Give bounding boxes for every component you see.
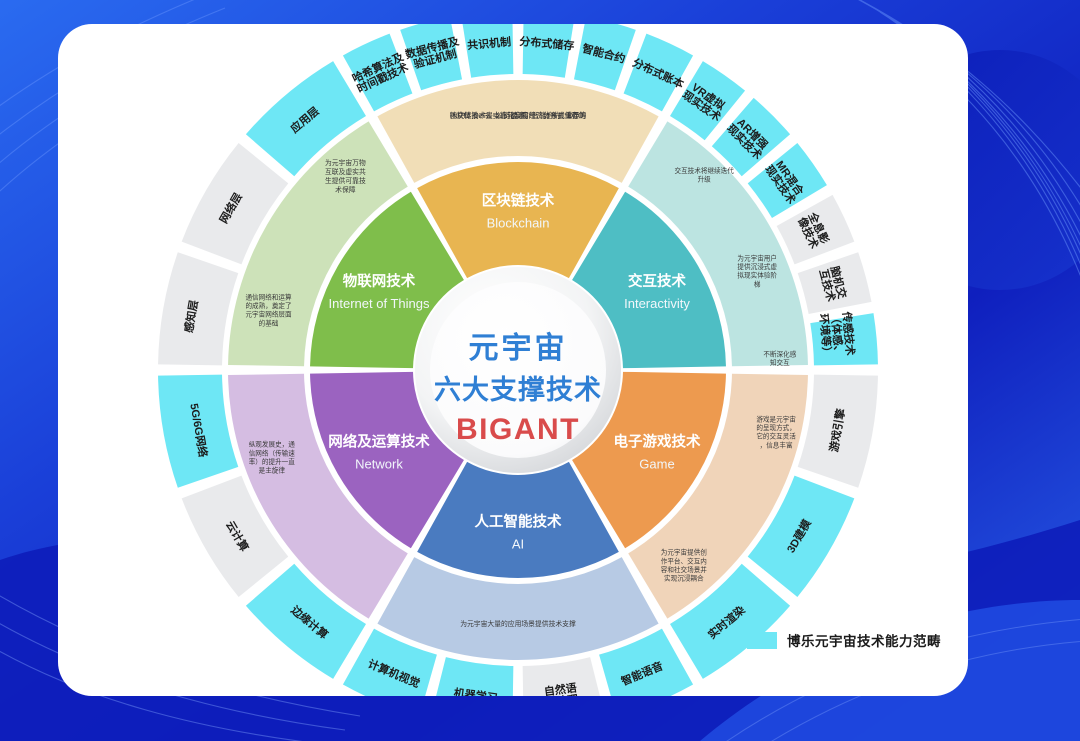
sector-subtitle-ai: AI bbox=[512, 537, 524, 552]
sector-title-game: 电子游戏技术 bbox=[613, 432, 700, 450]
sector-description-ai-0: 为元宇宙大量的应用场景提供技术支撑 bbox=[460, 619, 576, 628]
sector-subtitle-game: Game bbox=[639, 456, 674, 471]
sector-subtitle-network: Network bbox=[355, 456, 403, 471]
outer-tile-label-interactivity-5: 传感技术（体感、环境等） bbox=[817, 310, 858, 358]
legend-label: 博乐元宇宙技术能力范畴 bbox=[787, 630, 941, 650]
sector-subtitle-interactivity: Interactivity bbox=[624, 296, 690, 311]
center-line1: 元宇宙 bbox=[469, 331, 568, 365]
legend: 博乐元宇宙技术能力范畴 bbox=[747, 630, 941, 650]
sector-description-blockchain-3: 技术 bbox=[511, 111, 525, 120]
sector-title-interactivity: 交互技术 bbox=[628, 272, 686, 290]
sector-description-game-0: 游戏是元宇宙的呈现方式，它的交互灵活，信息丰富 bbox=[756, 414, 796, 449]
sector-title-blockchain: 区块链技术 bbox=[482, 192, 555, 210]
infographic-page: 区块链技术Blockchain交互技术Interactivity电子游戏技术Ga… bbox=[0, 0, 1080, 741]
sector-subtitle-iot: Internet of Things bbox=[329, 296, 430, 311]
sector-description-game-1: 为元宇宙提供创作平台、交互内容和社交场景并实现沉浸耦合 bbox=[661, 548, 708, 583]
sector-subtitle-blockchain: Blockchain bbox=[487, 216, 550, 231]
center-line2: 六大支撑技术 bbox=[434, 375, 602, 405]
sector-title-iot: 物联网技术 bbox=[343, 272, 416, 290]
metaverse-technology-wheel: 区块链技术Blockchain交互技术Interactivity电子游戏技术Ga… bbox=[58, 24, 968, 696]
sector-title-ai: 人工智能技术 bbox=[475, 513, 562, 531]
center-line3: BIGANT bbox=[456, 413, 580, 446]
legend-swatch-icon bbox=[747, 632, 777, 649]
sector-title-network: 网络及运算技术 bbox=[328, 432, 430, 450]
